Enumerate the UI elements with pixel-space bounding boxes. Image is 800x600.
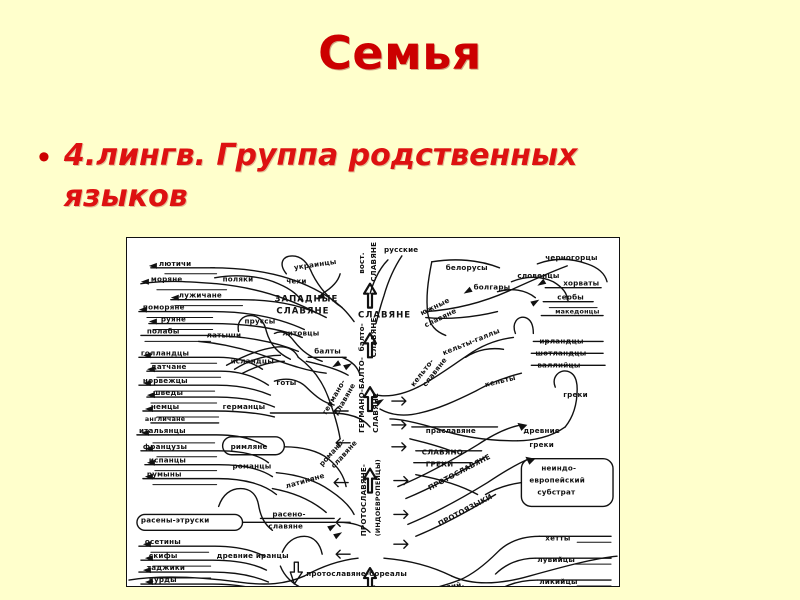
diagram-label-chernogorcy: черногорцы bbox=[545, 253, 597, 262]
diagram-label-protoslav2: ПРОТОЯЗЫКИ bbox=[436, 492, 493, 528]
diagram-label-lyutichi: лютичи bbox=[159, 259, 192, 268]
diagram-label-goty: готы bbox=[276, 378, 296, 387]
diagram-label-islandcy: исландцы bbox=[231, 356, 274, 365]
diagram-label-vost2: СЛАВЯНЕ bbox=[369, 242, 378, 282]
diagram-label-slovency: словенцы bbox=[517, 271, 559, 280]
diagram-label-nemcy: немцы bbox=[151, 402, 179, 411]
diagram-label-shvedy: шведы bbox=[153, 388, 183, 397]
diagram-label-anatol1: анатолий. bbox=[421, 580, 465, 586]
diagram-label-bottom: протославяне-бореалы bbox=[306, 569, 407, 578]
diagram-label-ukraincy: украинцы bbox=[293, 257, 337, 272]
diagram-label-chehi: чехи bbox=[286, 277, 306, 286]
diagram-label-kelty: кельты bbox=[484, 373, 517, 389]
diagram-label-neindo2: европейский bbox=[529, 476, 585, 485]
diagram-label-protoslav_ie2: (ИНДОЕВРОПЕЙЦЫ) bbox=[373, 459, 382, 536]
diagram-label-bolgary: болгары bbox=[474, 283, 511, 292]
page-title: Семья bbox=[0, 26, 800, 80]
diagram-label-raseno_sl1: расено- bbox=[272, 509, 305, 518]
diagram-label-shotlandcy: шотландцы bbox=[535, 348, 586, 357]
diagram-label-drevnie_greki: древние bbox=[523, 426, 560, 435]
diagram-label-zapadnye: ЗАПАДНЫЕ bbox=[274, 295, 338, 305]
diagram-label-skify: скифы bbox=[149, 551, 178, 560]
diagram-label-pomoryane: поморяне bbox=[143, 303, 185, 312]
diagram-label-rumyny: румыны bbox=[147, 470, 182, 479]
diagram-label-francuzy: французы bbox=[143, 442, 187, 451]
diagram-label-anglichane: англичане bbox=[145, 416, 185, 423]
diagram-label-rimlyane: римляне bbox=[231, 442, 268, 451]
diagram-label-vost1: вост. bbox=[357, 252, 366, 274]
diagram-label-horvaty: хорваты bbox=[563, 279, 599, 288]
diagram-label-likiycy: ликийцы bbox=[539, 577, 577, 586]
diagram-label-latyshi: латыши bbox=[207, 330, 242, 339]
diagram-label-indoarii: индоарии bbox=[219, 585, 261, 586]
diagram-label-ruyane: руяне bbox=[161, 315, 186, 324]
diagram-label-praslavyane: праславяне bbox=[426, 426, 476, 435]
diagram-label-greki: греки bbox=[563, 390, 588, 399]
language-family-tree-diagram: русскиеукраинцыбелорусычерногорцысловенц… bbox=[126, 237, 620, 587]
proto-bands bbox=[398, 423, 535, 536]
diagram-label-osetiny: осетины bbox=[145, 537, 181, 546]
diagram-label-valliycy: валлийцы bbox=[537, 360, 580, 369]
diagram-label-polaby: полабы bbox=[147, 326, 180, 335]
diagram-label-ispancy: испанцы bbox=[149, 456, 186, 465]
diagram-label-irlandcy: ирландцы bbox=[539, 336, 583, 345]
diagram-label-slavyano: славяно- bbox=[302, 585, 340, 586]
diagram-label-polyaki: поляки bbox=[223, 275, 254, 284]
diagram-label-greki2: греки bbox=[529, 440, 554, 449]
diagram-label-slavyano_gr1: СЛАВЯНО- bbox=[422, 448, 466, 457]
diagram-label-slavyane_c: СЛАВЯНЕ bbox=[358, 311, 411, 321]
diagram-label-raseny: расены-этруски bbox=[141, 515, 210, 524]
diagram-label-raseno_sl2: славяне bbox=[268, 521, 303, 530]
diagram-canvas: русскиеукраинцыбелорусычерногорцысловенц… bbox=[127, 238, 619, 586]
diagram-label-tadzhiki: таджики bbox=[147, 563, 185, 572]
diagram-label-hetty: хетты bbox=[545, 533, 570, 542]
diagram-label-prussy: пруссы bbox=[245, 317, 276, 326]
diagram-label-slavyano_gr2: ГРЕКИ bbox=[426, 460, 454, 469]
diagram-label-neindo3: субстрат bbox=[537, 488, 576, 497]
diagram-label-romancy: романцы bbox=[233, 462, 272, 471]
bullet-item: • 4.лингв. Группа родственных языков bbox=[38, 136, 618, 217]
diagram-label-makedoncy: македонцы bbox=[555, 309, 599, 316]
diagram-label-kurdy: курды bbox=[149, 575, 177, 584]
diagram-label-germbalt1: ГЕРМАНО-БАЛТО- bbox=[357, 357, 366, 433]
diagram-label-serby: сербы bbox=[557, 293, 584, 302]
diagram-label-gollandcy: голландцы bbox=[141, 348, 189, 357]
diagram-label-luzhichane: лужичане bbox=[179, 291, 222, 300]
slide-root: Семья • 4.лингв. Группа родственных язык… bbox=[0, 0, 800, 600]
diagram-label-moryane: моряне bbox=[151, 275, 183, 284]
diagram-labels: русскиеукраинцыбелорусычерногорцысловенц… bbox=[139, 242, 600, 586]
diagram-label-litovcy: литовцы bbox=[282, 328, 319, 337]
diagram-label-datchane: датчане bbox=[151, 362, 187, 371]
diagram-label-balto_sl2: СЛАВЯНЕ bbox=[369, 317, 378, 357]
diagram-label-balto_sl1: балто- bbox=[357, 323, 366, 351]
diagram-label-drevnie_iran: древние иранцы bbox=[217, 551, 289, 560]
diagram-label-germbalt2: СЛАВЯНЕ bbox=[371, 393, 380, 433]
diagram-label-latinyane: латиняне bbox=[284, 471, 325, 491]
diagram-label-belorusy: белорусы bbox=[446, 263, 488, 272]
diagram-label-zapslav: СЛАВЯНЕ bbox=[276, 307, 329, 317]
diagram-label-norvezhcy: норвежцы bbox=[143, 376, 188, 385]
diagram-label-germancy: германцы bbox=[223, 402, 266, 411]
bullet-item-label: 4.лингв. Группа родственных языков bbox=[64, 136, 618, 217]
diagram-label-russkie: русские bbox=[384, 245, 418, 254]
diagram-label-balty: балты bbox=[314, 346, 341, 355]
raseny-branch bbox=[137, 489, 370, 540]
diagram-label-protoslav_ie1: ПРОТОСЛАВЯНЕ- bbox=[359, 464, 368, 536]
diagram-label-italyancy: итальянцы bbox=[139, 426, 186, 435]
diagram-label-luviycy: лувийцы bbox=[537, 555, 575, 564]
diagram-label-neindo1: неиндо- bbox=[541, 464, 576, 473]
bullet-marker-icon: • bbox=[38, 138, 50, 176]
